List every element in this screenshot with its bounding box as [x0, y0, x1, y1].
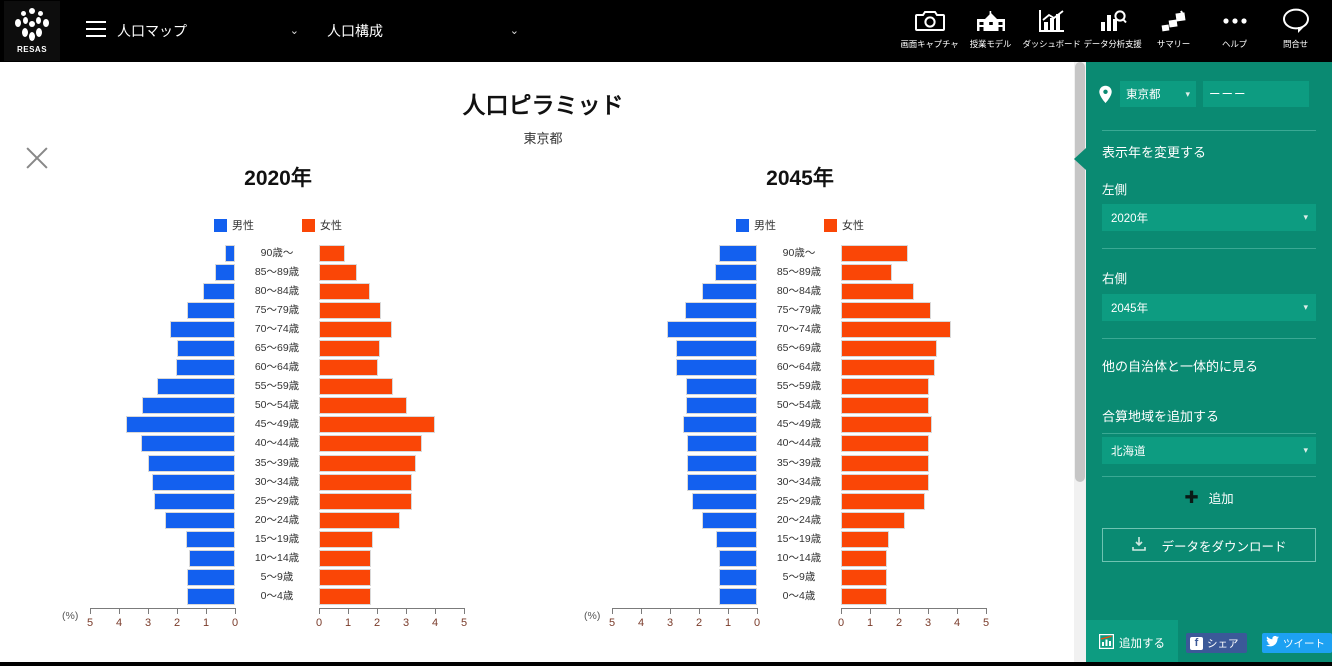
axis-tick: [728, 608, 729, 614]
axis-tick: [899, 608, 900, 614]
bar-male[interactable]: [152, 474, 235, 491]
bar-male[interactable]: [676, 340, 757, 357]
pyramid-row: 70〜74歳: [18, 320, 538, 339]
tool-summary-label: サマリー: [1157, 38, 1190, 50]
age-group-label: 55〜59歳: [753, 377, 845, 396]
bar-female[interactable]: [841, 455, 929, 472]
tool-help-label: ヘルプ: [1222, 38, 1247, 50]
left-year-value: 2020年: [1111, 210, 1148, 226]
tool-lesson-model-label: 授業モデル: [970, 38, 1012, 50]
bar-female[interactable]: [841, 340, 937, 357]
page-title: 人口ピラミッド: [0, 86, 1086, 120]
age-group-label: 20〜24歳: [753, 511, 845, 530]
tool-dashboard[interactable]: ダッシュボード: [1021, 4, 1082, 60]
axis-tick: [435, 608, 436, 614]
merge-area-select[interactable]: 北海道 ▾: [1102, 437, 1316, 464]
pyramid-row: 90歳〜: [540, 244, 1060, 263]
axis-tick: [928, 608, 929, 614]
bar-male[interactable]: [157, 378, 235, 395]
pyramid-row: 85〜89歳: [18, 263, 538, 282]
bar-male[interactable]: [187, 302, 235, 319]
bar-male[interactable]: [154, 493, 235, 510]
axis-tick-label: 4: [954, 617, 960, 629]
pyramid-row: 65〜69歳: [18, 339, 538, 358]
legend-swatch-female: [302, 219, 315, 232]
age-group-label: 25〜29歳: [231, 492, 323, 511]
facebook-share-label: シェア: [1207, 636, 1239, 651]
axis-tick: [206, 608, 207, 614]
pyramid-row: 15〜19歳: [18, 530, 538, 549]
footer-add-button[interactable]: 追加する: [1086, 620, 1178, 666]
tool-data-analysis-support[interactable]: データ分析支援: [1082, 4, 1143, 60]
axis-tick-label: 4: [638, 617, 644, 629]
chart-title-right: 2045年: [540, 162, 1060, 192]
bar-female[interactable]: [841, 397, 929, 414]
age-group-label: 20〜24歳: [231, 511, 323, 530]
legend-label-female: 女性: [320, 217, 342, 233]
chevron-down-icon: ▾: [1303, 445, 1308, 456]
bar-male[interactable]: [170, 321, 235, 338]
download-data-label: データをダウンロード: [1161, 536, 1286, 555]
pyramid-row: 25〜29歳: [18, 492, 538, 511]
bar-female[interactable]: [841, 264, 892, 281]
axis-tick-label: 5: [87, 617, 93, 629]
axis-tick: [957, 608, 958, 614]
view-with-other-municipalities-label[interactable]: 他の自治体と一体的に見る: [1102, 356, 1258, 375]
age-group-label: 45〜49歳: [231, 415, 323, 434]
map-pin-icon: [1098, 85, 1113, 104]
pyramid-row: 45〜49歳: [18, 415, 538, 434]
age-group-label: 75〜79歳: [753, 301, 845, 320]
bar-female[interactable]: [841, 569, 887, 586]
bar-female[interactable]: [841, 435, 929, 452]
axis-tick-label: 5: [983, 617, 989, 629]
bar-female[interactable]: [319, 435, 422, 452]
bar-female[interactable]: [319, 588, 371, 605]
age-group-label: 0〜4歳: [753, 587, 845, 606]
axis-tick: [348, 608, 349, 614]
bar-male[interactable]: [126, 416, 235, 433]
pyramid-row: 55〜59歳: [540, 377, 1060, 396]
legend-label-male: 男性: [754, 217, 776, 233]
bar-female[interactable]: [319, 416, 435, 433]
axis-tick: [90, 608, 91, 614]
age-group-label: 30〜34歳: [231, 473, 323, 492]
twitter-bird-icon: [1266, 636, 1279, 650]
age-group-label: 80〜84歳: [753, 282, 845, 301]
axis-tick: [641, 608, 642, 614]
bar-female[interactable]: [841, 359, 935, 376]
age-group-label: 25〜29歳: [753, 492, 845, 511]
bar-male[interactable]: [702, 283, 757, 300]
bar-female[interactable]: [841, 493, 925, 510]
age-group-label: 10〜14歳: [231, 549, 323, 568]
bar-male[interactable]: [165, 512, 235, 529]
age-group-label: 55〜59歳: [231, 377, 323, 396]
axis-line: [90, 608, 235, 609]
bar-female[interactable]: [319, 302, 381, 319]
tool-summary[interactable]: サマリー: [1143, 4, 1204, 60]
speech-bubble-icon: [1282, 4, 1310, 38]
bar-male[interactable]: [702, 512, 757, 529]
axis-tick-label: 2: [174, 617, 180, 629]
bar-female[interactable]: [841, 416, 932, 433]
legend-item-male: 男性: [214, 217, 254, 233]
bar-female[interactable]: [841, 302, 931, 319]
axis-tick: [148, 608, 149, 614]
tool-lesson-model[interactable]: 授業モデル: [960, 4, 1021, 60]
pyramid-row: 40〜44歳: [18, 434, 538, 453]
tool-data-analysis-support-label: データ分析支援: [1083, 38, 1141, 50]
axis-tick-label: 2: [696, 617, 702, 629]
age-group-label: 5〜9歳: [231, 568, 323, 587]
bar-female[interactable]: [319, 474, 412, 491]
bar-male[interactable]: [683, 416, 757, 433]
age-group-label: 65〜69歳: [231, 339, 323, 358]
menu-population-composition[interactable]: 人口構成 ⌄: [327, 17, 527, 45]
bar-chart-magnifier-icon: [1099, 4, 1127, 38]
add-button[interactable]: ✚ 追加: [1102, 485, 1316, 509]
bar-female[interactable]: [319, 340, 380, 357]
axis-tick-label: 1: [345, 617, 351, 629]
age-group-label: 50〜54歳: [753, 396, 845, 415]
bar-male[interactable]: [692, 493, 757, 510]
age-group-label: 0〜4歳: [231, 587, 323, 606]
city-select-value: ーーー: [1209, 86, 1247, 102]
axis-tick: [177, 608, 178, 614]
download-icon: [1131, 536, 1147, 554]
prefecture-select-value: 東京都: [1126, 86, 1161, 102]
toolbar: 画面キャプチャ 授業モデル: [899, 4, 1326, 62]
age-group-label: 35〜39歳: [753, 454, 845, 473]
footer-add-label: 追加する: [1119, 635, 1165, 651]
bar-male[interactable]: [676, 359, 757, 376]
prefecture-select[interactable]: 東京都 ▾: [1120, 81, 1196, 107]
pyramid-row: 50〜54歳: [540, 396, 1060, 415]
add-button-label: 追加: [1209, 488, 1234, 507]
age-group-label: 40〜44歳: [753, 434, 845, 453]
bar-female[interactable]: [319, 550, 371, 567]
pyramid-row: 45〜49歳: [540, 415, 1060, 434]
bar-female[interactable]: [841, 245, 908, 262]
tool-contact[interactable]: 問合せ: [1265, 4, 1326, 60]
axis-tick: [464, 608, 465, 614]
pyramid-row: 50〜54歳: [18, 396, 538, 415]
bar-male[interactable]: [141, 435, 235, 452]
age-group-label: 80〜84歳: [231, 282, 323, 301]
age-group-label: 85〜89歳: [231, 263, 323, 282]
ellipsis-icon: [1220, 4, 1250, 38]
settings-sidebar: 東京都 ▾ ーーー 表示年を変更する 左側 2020年 ▾ 右側 2045年 ▾…: [1086, 62, 1332, 666]
bar-male[interactable]: [687, 474, 757, 491]
age-group-label: 5〜9歳: [753, 568, 845, 587]
pyramid-row: 30〜34歳: [540, 473, 1060, 492]
age-group-label: 90歳〜: [753, 244, 845, 263]
page-subtitle: 東京都: [0, 128, 1086, 147]
pyramid-row: 60〜64歳: [18, 358, 538, 377]
divider: [1102, 338, 1316, 339]
pyramid-row: 35〜39歳: [18, 454, 538, 473]
axis-tick: [377, 608, 378, 614]
bar-female[interactable]: [319, 569, 371, 586]
bar-female[interactable]: [319, 455, 416, 472]
axis-tick: [235, 608, 236, 614]
chart-dashboard-icon: [1038, 4, 1066, 38]
axis-tick-label: 2: [374, 617, 380, 629]
age-group-label: 10〜14歳: [753, 549, 845, 568]
pyramid-row: 80〜84歳: [540, 282, 1060, 301]
top-navigation-bar: RESAS 人口マップ ⌄ 人口構成 ⌄ 画面キャプチャ: [0, 0, 1332, 62]
bar-male[interactable]: [685, 302, 758, 319]
axis-unit-label: (%): [584, 610, 600, 622]
axis-tick-label: 3: [925, 617, 931, 629]
sidebar-pointer: [1074, 148, 1086, 170]
bar-male[interactable]: [687, 455, 757, 472]
axis-tick-label: 4: [432, 617, 438, 629]
axis-tick-label: 0: [316, 617, 322, 629]
bar-male[interactable]: [719, 550, 757, 567]
tool-screen-capture-label: 画面キャプチャ: [900, 38, 958, 50]
menu-population-map[interactable]: 人口マップ ⌄: [117, 17, 307, 45]
age-group-label: 35〜39歳: [231, 454, 323, 473]
axis-tick-label: 1: [867, 617, 873, 629]
axis-tick: [841, 608, 842, 614]
bar-female[interactable]: [841, 378, 929, 395]
chevron-down-icon: ⌄: [290, 17, 299, 45]
download-data-button[interactable]: データをダウンロード: [1102, 528, 1316, 562]
bar-male[interactable]: [719, 569, 757, 586]
divider: [1102, 248, 1316, 249]
facebook-icon: f: [1190, 637, 1203, 650]
axis-tick: [319, 608, 320, 614]
bar-male[interactable]: [716, 531, 757, 548]
bottom-strip: [0, 662, 1332, 666]
right-year-select[interactable]: 2045年 ▾: [1102, 294, 1316, 321]
hamburger-menu-icon[interactable]: [86, 21, 106, 37]
age-group-label: 45〜49歳: [753, 415, 845, 434]
x-axis-male: 012345: [90, 608, 235, 634]
bar-female[interactable]: [841, 321, 951, 338]
pyramid-row: 10〜14歳: [18, 549, 538, 568]
axis-tick: [119, 608, 120, 614]
legend-item-female: 女性: [824, 217, 864, 233]
plus-icon: ✚: [1184, 489, 1198, 506]
location-selector-row: 東京都 ▾ ーーー: [1086, 78, 1332, 110]
camera-icon: [915, 4, 945, 38]
axis-line: [319, 608, 464, 609]
right-year-value: 2045年: [1111, 300, 1148, 316]
bar-male[interactable]: [719, 588, 757, 605]
age-group-label: 15〜19歳: [231, 530, 323, 549]
bar-male[interactable]: [187, 569, 235, 586]
twitter-tweet-button[interactable]: ツイート: [1262, 633, 1332, 653]
tool-help[interactable]: ヘルプ: [1204, 4, 1265, 60]
axis-tick: [406, 608, 407, 614]
legend-swatch-female: [824, 219, 837, 232]
bar-male[interactable]: [187, 588, 235, 605]
age-group-label: 30〜34歳: [753, 473, 845, 492]
resas-logo-mark: [14, 8, 50, 44]
age-group-label: 50〜54歳: [231, 396, 323, 415]
bar-female[interactable]: [841, 474, 929, 491]
pyramid-row: 65〜69歳: [540, 339, 1060, 358]
age-group-label: 90歳〜: [231, 244, 323, 263]
age-group-label: 60〜64歳: [753, 358, 845, 377]
tool-screen-capture[interactable]: 画面キャプチャ: [899, 4, 960, 60]
axis-tick-label: 0: [232, 617, 238, 629]
axis-tick: [986, 608, 987, 614]
bar-female[interactable]: [319, 493, 412, 510]
twitter-tweet-label: ツイート: [1283, 636, 1325, 651]
axis-line: [612, 608, 757, 609]
axis-tick-label: 3: [403, 617, 409, 629]
axis-tick: [612, 608, 613, 614]
main-content: 人口ピラミッド 東京都 2020年 男性 女性 90歳〜85〜89歳80〜84歳…: [0, 62, 1086, 666]
pyramid-row: 5〜9歳: [540, 568, 1060, 587]
axis-tick-label: 2: [896, 617, 902, 629]
pyramid-row: 80〜84歳: [18, 282, 538, 301]
city-select[interactable]: ーーー: [1203, 81, 1309, 107]
bar-female[interactable]: [319, 321, 392, 338]
resas-logo[interactable]: RESAS: [4, 1, 60, 61]
bar-male[interactable]: [715, 264, 757, 281]
age-group-label: 60〜64歳: [231, 358, 323, 377]
pyramid-row: 60〜64歳: [540, 358, 1060, 377]
bar-male[interactable]: [176, 359, 235, 376]
bar-female[interactable]: [319, 512, 400, 529]
pyramid-row: 40〜44歳: [540, 434, 1060, 453]
axis-tick: [699, 608, 700, 614]
pyramid-row: 90歳〜: [18, 244, 538, 263]
bar-female[interactable]: [319, 531, 373, 548]
bar-male[interactable]: [177, 340, 235, 357]
axis-tick-label: 1: [725, 617, 731, 629]
legend-label-female: 女性: [842, 217, 864, 233]
chart-panel-left: 2020年 男性 女性 90歳〜85〜89歳80〜84歳75〜79歳70〜74歳…: [18, 162, 538, 662]
bar-female[interactable]: [841, 531, 889, 548]
right-side-label: 右側: [1102, 268, 1127, 287]
school-building-icon: [976, 4, 1006, 38]
x-axis-female: 012345: [319, 608, 464, 634]
summary-steps-icon: [1160, 4, 1188, 38]
legend-swatch-male: [736, 219, 749, 232]
bar-female[interactable]: [319, 397, 407, 414]
axis-unit-label: (%): [62, 610, 78, 622]
pyramid-rows: 90歳〜85〜89歳80〜84歳75〜79歳70〜74歳65〜69歳60〜64歳…: [18, 244, 538, 606]
axis-tick: [670, 608, 671, 614]
bar-female[interactable]: [841, 512, 905, 529]
scrollbar-thumb[interactable]: [1075, 62, 1085, 482]
axis-tick: [870, 608, 871, 614]
age-group-label: 15〜19歳: [753, 530, 845, 549]
axis-tick-label: 1: [203, 617, 209, 629]
bar-female[interactable]: [841, 588, 887, 605]
bar-male[interactable]: [142, 397, 235, 414]
pyramid-row: 0〜4歳: [18, 587, 538, 606]
pyramid-row: 55〜59歳: [18, 377, 538, 396]
pyramid-chart-left: 90歳〜85〜89歳80〜84歳75〜79歳70〜74歳65〜69歳60〜64歳…: [18, 244, 538, 662]
legend-label-male: 男性: [232, 217, 254, 233]
pyramid-row: 75〜79歳: [540, 301, 1060, 320]
left-year-select[interactable]: 2020年 ▾: [1102, 204, 1316, 231]
pyramid-row: 35〜39歳: [540, 454, 1060, 473]
bar-male[interactable]: [667, 321, 757, 338]
bar-female[interactable]: [841, 550, 887, 567]
legend-swatch-male: [214, 219, 227, 232]
chart-title-left: 2020年: [18, 162, 538, 192]
bar-female[interactable]: [319, 283, 370, 300]
pyramid-row: 20〜24歳: [540, 511, 1060, 530]
chart-panel-right: 2045年 男性 女性 90歳〜85〜89歳80〜84歳75〜79歳70〜74歳…: [540, 162, 1060, 662]
tool-dashboard-label: ダッシュボード: [1022, 38, 1080, 50]
chevron-down-icon: ⌄: [510, 17, 519, 45]
axis-tick-label: 5: [461, 617, 467, 629]
pyramid-row: 25〜29歳: [540, 492, 1060, 511]
pyramid-rows: 90歳〜85〜89歳80〜84歳75〜79歳70〜74歳65〜69歳60〜64歳…: [540, 244, 1060, 606]
facebook-share-button[interactable]: f シェア: [1186, 633, 1247, 653]
pyramid-row: 20〜24歳: [18, 511, 538, 530]
x-axis-female: 012345: [841, 608, 986, 634]
tool-contact-label: 問合せ: [1283, 38, 1308, 50]
divider: [1102, 433, 1316, 434]
pyramid-row: 70〜74歳: [540, 320, 1060, 339]
bar-male[interactable]: [719, 245, 757, 262]
change-year-heading: 表示年を変更する: [1102, 142, 1206, 161]
bar-male[interactable]: [186, 531, 235, 548]
age-group-label: 65〜69歳: [753, 339, 845, 358]
pyramid-row: 85〜89歳: [540, 263, 1060, 282]
bar-female[interactable]: [319, 264, 357, 281]
bar-male[interactable]: [686, 378, 757, 395]
axis-tick-label: 5: [609, 617, 615, 629]
pyramid-row: 0〜4歳: [540, 587, 1060, 606]
chart-add-icon: [1099, 634, 1114, 652]
axis-tick: [757, 608, 758, 614]
pyramid-row: 5〜9歳: [18, 568, 538, 587]
pyramid-row: 15〜19歳: [540, 530, 1060, 549]
axis-tick-label: 0: [754, 617, 760, 629]
x-axis-male: 012345: [612, 608, 757, 634]
bar-male[interactable]: [148, 455, 235, 472]
legend-item-male: 男性: [736, 217, 776, 233]
chart-legend-left: 男性 女性: [18, 217, 538, 233]
divider: [1102, 476, 1316, 477]
bar-female[interactable]: [841, 283, 914, 300]
axis-tick-label: 4: [116, 617, 122, 629]
age-group-label: 40〜44歳: [231, 434, 323, 453]
age-group-label: 75〜79歳: [231, 301, 323, 320]
chevron-down-icon: ▾: [1185, 89, 1190, 100]
chevron-down-icon: ▾: [1303, 212, 1308, 223]
bar-male[interactable]: [189, 550, 235, 567]
bar-male[interactable]: [686, 397, 757, 414]
bar-female[interactable]: [319, 378, 393, 395]
left-side-label: 左側: [1102, 179, 1127, 198]
axis-tick-label: 3: [667, 617, 673, 629]
age-group-label: 70〜74歳: [753, 320, 845, 339]
pyramid-row: 10〜14歳: [540, 549, 1060, 568]
chevron-down-icon: ▾: [1303, 302, 1308, 313]
chart-legend-right: 男性 女性: [540, 217, 1060, 233]
axis-line: [841, 608, 986, 609]
divider: [1102, 130, 1316, 131]
axis-tick-label: 0: [838, 617, 844, 629]
menu-population-composition-label: 人口構成: [327, 23, 383, 39]
bar-female[interactable]: [319, 359, 378, 376]
bar-male[interactable]: [687, 435, 757, 452]
menu-population-map-label: 人口マップ: [117, 23, 187, 39]
merge-area-value: 北海道: [1111, 443, 1146, 459]
